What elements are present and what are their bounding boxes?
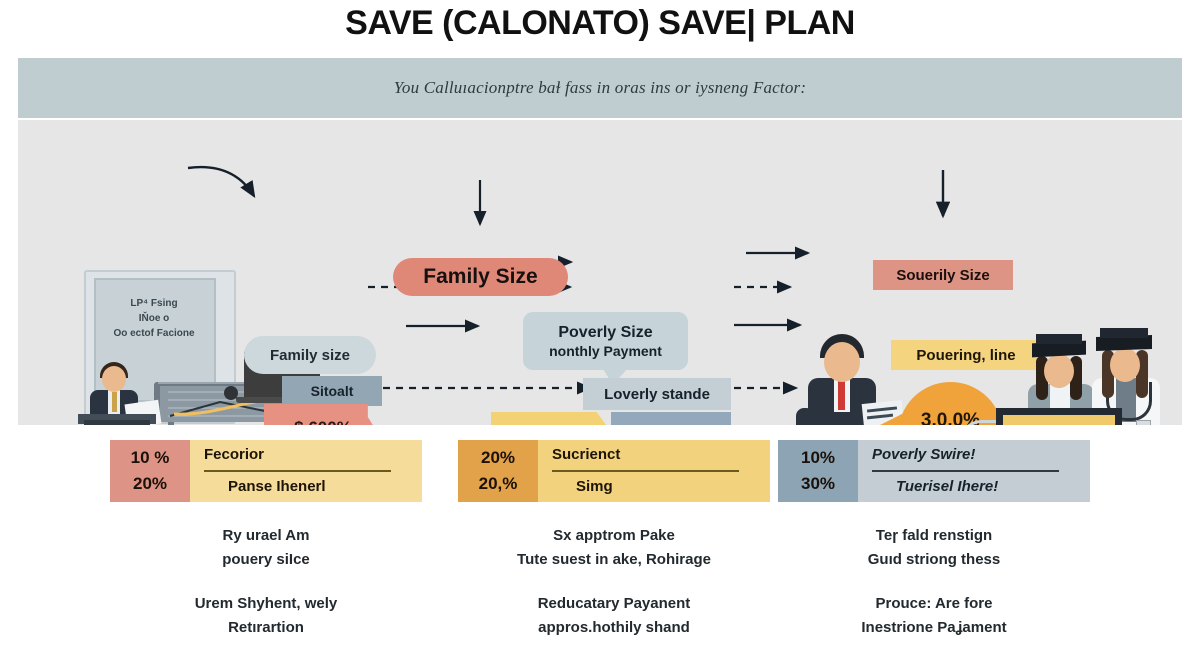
card-1-body: Fecorior Panse Ihenerl — [190, 440, 422, 502]
card-1-bar: 10 % 20% Fecorior Panse Ihenerl — [110, 440, 422, 502]
card-1-note-a: Ry urael Am pouery siIce — [110, 524, 422, 572]
card-3-percentages: 10% 30% — [778, 440, 858, 502]
card-2-note-a-line-1: Sx apptrom Pake — [458, 524, 770, 548]
callout-poverly-subtitle: nonthly Payment — [549, 342, 662, 360]
card-3-note-b: Prouce: Are fore Inestrione Paʝament — [778, 592, 1090, 640]
graduate-1-head-icon — [1044, 354, 1074, 388]
summary-card-1: 10 % 20% Fecorior Panse Ihenerl Ry urael… — [110, 440, 430, 640]
page-title: SAVE (CALONATO) SAVE| PLAN — [0, 4, 1200, 43]
graduate-1-cap-top-icon — [1036, 334, 1082, 344]
card-1-pct-bottom: 20% — [133, 471, 167, 497]
summary-card-2: 20% 20,% Sucrienct Simg Sx apptrom Pake … — [458, 440, 778, 640]
card-2-line-1: Sucrienct — [552, 442, 739, 472]
card-3-pct-top: 10% — [801, 445, 835, 471]
card-1-note-a-line-1: Ry urael Am — [110, 524, 422, 548]
card-2-note-a-line-2: Tute suest in ake, Rohirage — [458, 548, 770, 572]
card-2-note-b-line-1: Reducatary Payanent — [458, 592, 770, 616]
card-3-pct-bottom: 30% — [801, 471, 835, 497]
poster-line-3: Oo ectof Facione — [98, 326, 210, 341]
summary-card-3: 10% 30% Poverly Swire! Tuerisel Ihere! T… — [778, 440, 1098, 640]
card-2-pct-top: 20% — [481, 445, 515, 471]
poster-line-2: IŇoe o — [98, 311, 210, 326]
id-badge-icon — [1136, 420, 1151, 425]
label-pouering-line: Pouering, line — [891, 340, 1041, 370]
card-3-line-2: Tuerisel Ihere! — [872, 472, 1090, 500]
card-1-note-b: Urem Shyhent, wely Retırartion — [110, 592, 422, 640]
pill-family-size: Family Size — [393, 258, 568, 296]
card-3-note-a-line-2: Guıd striong thess — [778, 548, 1090, 572]
businessman-arm-icon — [796, 408, 814, 425]
left-arrow-value-1: $.600% — [294, 416, 352, 425]
card-2-bar: 20% 20,% Sucrienct Simg — [458, 440, 770, 502]
card-1-notes: Ry urael Am pouery siIce Urem Shyhent, w… — [110, 524, 422, 640]
card-2-note-a: Sx apptrom Pake Tute suest in ake, Rohir… — [458, 524, 770, 572]
card-2-note-b-line-2: appros.hothily shand — [458, 616, 770, 640]
card-2-percentages: 20% 20,% — [458, 440, 538, 502]
graduate-2-cap-top-icon — [1100, 328, 1148, 338]
card-1-percentages: 10 % 20% — [110, 440, 190, 502]
card-1-line-1: Fecorior — [204, 442, 391, 472]
poster-text: LP⁴ Fsing IŇoe o Oo ectof Facione — [98, 296, 210, 341]
yellow-value-1: 5. % — [532, 424, 582, 425]
presenter-tie-icon — [112, 392, 117, 412]
card-1-line-2: Panse Ihenerl — [204, 472, 422, 500]
card-3-note-b-line-2: Inestrione Paʝament — [778, 616, 1090, 640]
card-2-body: Sucrienct Simg — [538, 440, 770, 502]
presenter-head-icon — [102, 366, 126, 392]
label-souerily-size: Souerily Size — [873, 260, 1013, 290]
poster-line-1: LP⁴ Fsing — [98, 296, 210, 311]
diagram-panel: LP⁴ Fsing IŇoe o Oo ectof Facione — [18, 120, 1182, 425]
businessman-head-icon — [824, 342, 860, 382]
graduate-2-head-icon — [1110, 348, 1140, 382]
subtitle-band: You Calluıacionptre baɫ fass in oras ins… — [18, 58, 1182, 118]
summary-cards: 10 % 20% Fecorior Panse Ihenerl Ry urael… — [0, 440, 1200, 654]
podium-icon — [84, 420, 150, 425]
blue-value-1: 5. 0 % — [647, 424, 695, 425]
panel-blue-values: 5. 0 % 5.1 % — [611, 412, 731, 425]
card-1-note-a-line-2: pouery siIce — [110, 548, 422, 572]
card-2-notes: Sx apptrom Pake Tute suest in ake, Rohir… — [458, 524, 770, 640]
card-1-note-b-line-2: Retırartion — [110, 616, 422, 640]
card-3-note-a-line-1: Teɼ fald renstign — [778, 524, 1090, 548]
bar-loverly-stande: Loverly stande — [583, 378, 731, 410]
device-screen-icon — [996, 408, 1122, 425]
card-3-bar: 10% 30% Poverly Swire! Tuerisel Ihere! — [778, 440, 1090, 502]
card-3-note-a: Teɼ fald renstign Guıd striong thess — [778, 524, 1090, 572]
callout-poverly-size: Poverly Size nonthly Payment — [523, 312, 688, 370]
panel-yellow-values: 5. % ʃ2% — [491, 412, 623, 425]
card-2-line-2: Simg — [552, 472, 770, 500]
callout-poverly-title: Poverly Size — [558, 323, 652, 342]
card-2-note-b: Reducatary Payanent appros.hothily shand — [458, 592, 770, 640]
infographic-root: SAVE (CALONATO) SAVE| PLAN You Calluıaci… — [0, 0, 1200, 654]
card-1-note-b-line-1: Urem Shyhent, wely — [110, 592, 422, 616]
arrow-block-left-values: $.600% 50% — [264, 404, 382, 425]
card-1-pct-top: 10 % — [131, 445, 170, 471]
card-3-body: Poverly Swire! Tuerisel Ihere! — [858, 440, 1090, 502]
subtitle-text: You Calluıacionptre baɫ fass in oras ins… — [394, 78, 806, 98]
card-2-pct-bottom: 20,% — [479, 471, 518, 497]
card-3-line-1: Poverly Swire! — [872, 442, 1059, 472]
card-3-note-b-line-1: Prouce: Are fore — [778, 592, 1090, 616]
bar-sitoalt: Sitoalt — [282, 376, 382, 406]
callout-family-size: Family size — [244, 336, 376, 374]
card-3-notes: Teɼ fald renstign Guıd striong thess Pro… — [778, 524, 1090, 640]
businessman-tie-icon — [838, 380, 845, 410]
knob-left-icon — [224, 386, 238, 400]
